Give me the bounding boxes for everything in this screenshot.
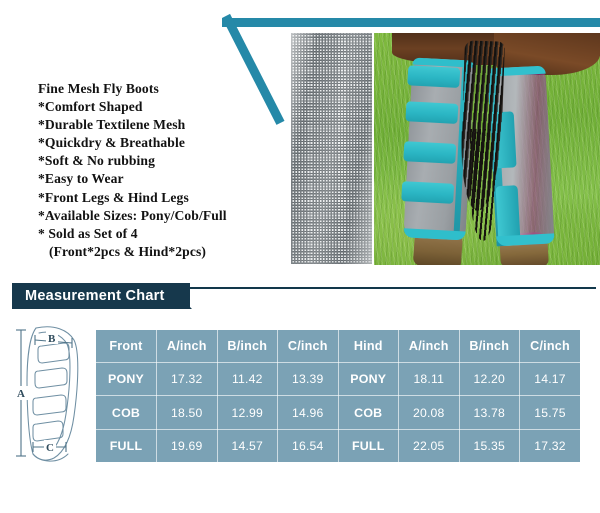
feature-item-set: * Sold as Set of 4 (38, 225, 278, 243)
product-photo-horse-legs (374, 33, 600, 265)
feature-item-quickdry: *Quickdry & Breathable (38, 134, 278, 152)
diagram-label-c-text: C (46, 442, 54, 454)
header-hind-a: A/inch (399, 330, 460, 362)
front-cob-a: 18.50 (157, 396, 218, 430)
feature-item-sizes: *Available Sizes: Pony/Cob/Full (38, 207, 278, 225)
feature-item-legs: *Front Legs & Hind Legs (38, 189, 278, 207)
mesh-sheen-overlay (291, 33, 372, 264)
product-infographic: Fine Mesh Fly Boots *Comfort Shaped *Dur… (0, 0, 600, 513)
hero-section: Fine Mesh Fly Boots *Comfort Shaped *Dur… (0, 0, 600, 272)
feature-item-mesh: *Durable Textilene Mesh (38, 116, 278, 134)
front-cob-label: COB (96, 396, 157, 430)
header-hind-c: C/inch (520, 330, 581, 362)
header-front-b: B/inch (217, 330, 278, 362)
measurement-chart-title: Measurement Chart (25, 287, 195, 306)
hind-full-b: 15.35 (459, 430, 520, 462)
boot-left-strap-1 (407, 65, 460, 88)
boot-left-strap-3 (403, 141, 456, 164)
feature-item-easy-wear: *Easy to Wear (38, 170, 278, 188)
boot-diagram-svg: A B C (6, 316, 94, 466)
hind-cob-b: 13.78 (459, 396, 520, 430)
mesh-fabric-swatch-image (291, 33, 372, 264)
front-pony-label: PONY (96, 362, 157, 396)
hind-full-label: FULL (338, 430, 399, 462)
boot-right-strap-2 (496, 185, 521, 242)
horse-tail-strands (470, 129, 496, 241)
hind-pony-b: 12.20 (459, 362, 520, 396)
front-full-a: 19.69 (157, 430, 218, 462)
header-hind-b: B/inch (459, 330, 520, 362)
header-front-a: A/inch (157, 330, 218, 362)
table-row: PONY 17.32 11.42 13.39 PONY 18.11 12.20 … (96, 362, 580, 396)
hind-full-a: 22.05 (399, 430, 460, 462)
feature-item-soft: *Soft & No rubbing (38, 152, 278, 170)
feature-item-comfort: *Comfort Shaped (38, 98, 278, 116)
front-full-label: FULL (96, 430, 157, 462)
front-pony-c: 13.39 (278, 362, 339, 396)
table-row: COB 18.50 12.99 14.96 COB 20.08 13.78 15… (96, 396, 580, 430)
feature-list: Fine Mesh Fly Boots *Comfort Shaped *Dur… (38, 80, 278, 261)
header-front-c: C/inch (278, 330, 339, 362)
hind-cob-label: COB (338, 396, 399, 430)
front-cob-b: 12.99 (217, 396, 278, 430)
hind-full-c: 17.32 (520, 430, 581, 462)
measurement-table-wrapper: Front A/inch B/inch C/inch Hind A/inch B… (96, 330, 580, 462)
hind-cob-c: 15.75 (520, 396, 581, 430)
front-pony-b: 11.42 (217, 362, 278, 396)
front-pony-a: 17.32 (157, 362, 218, 396)
table-row: FULL 19.69 14.57 16.54 FULL 22.05 15.35 … (96, 430, 580, 462)
teal-top-bar (222, 18, 600, 27)
feature-item-set-detail: (Front*2pcs & Hind*2pcs) (38, 243, 278, 261)
diagram-label-a-text: A (17, 388, 25, 400)
boot-measurement-diagram: A B C (6, 316, 94, 466)
measurement-table: Front A/inch B/inch C/inch Hind A/inch B… (96, 330, 580, 462)
boot-left-strap-4 (401, 181, 454, 204)
front-cob-c: 14.96 (278, 396, 339, 430)
front-full-c: 16.54 (278, 430, 339, 462)
hind-pony-label: PONY (338, 362, 399, 396)
boot-left-strap-2 (405, 101, 458, 124)
hind-pony-c: 14.17 (520, 362, 581, 396)
hind-pony-a: 18.11 (399, 362, 460, 396)
header-hind: Hind (338, 330, 399, 362)
feature-title: Fine Mesh Fly Boots (38, 80, 278, 98)
hind-cob-a: 20.08 (399, 396, 460, 430)
diagram-label-b-text: B (48, 333, 56, 345)
front-full-b: 14.57 (217, 430, 278, 462)
table-header-row: Front A/inch B/inch C/inch Hind A/inch B… (96, 330, 580, 362)
header-front: Front (96, 330, 157, 362)
